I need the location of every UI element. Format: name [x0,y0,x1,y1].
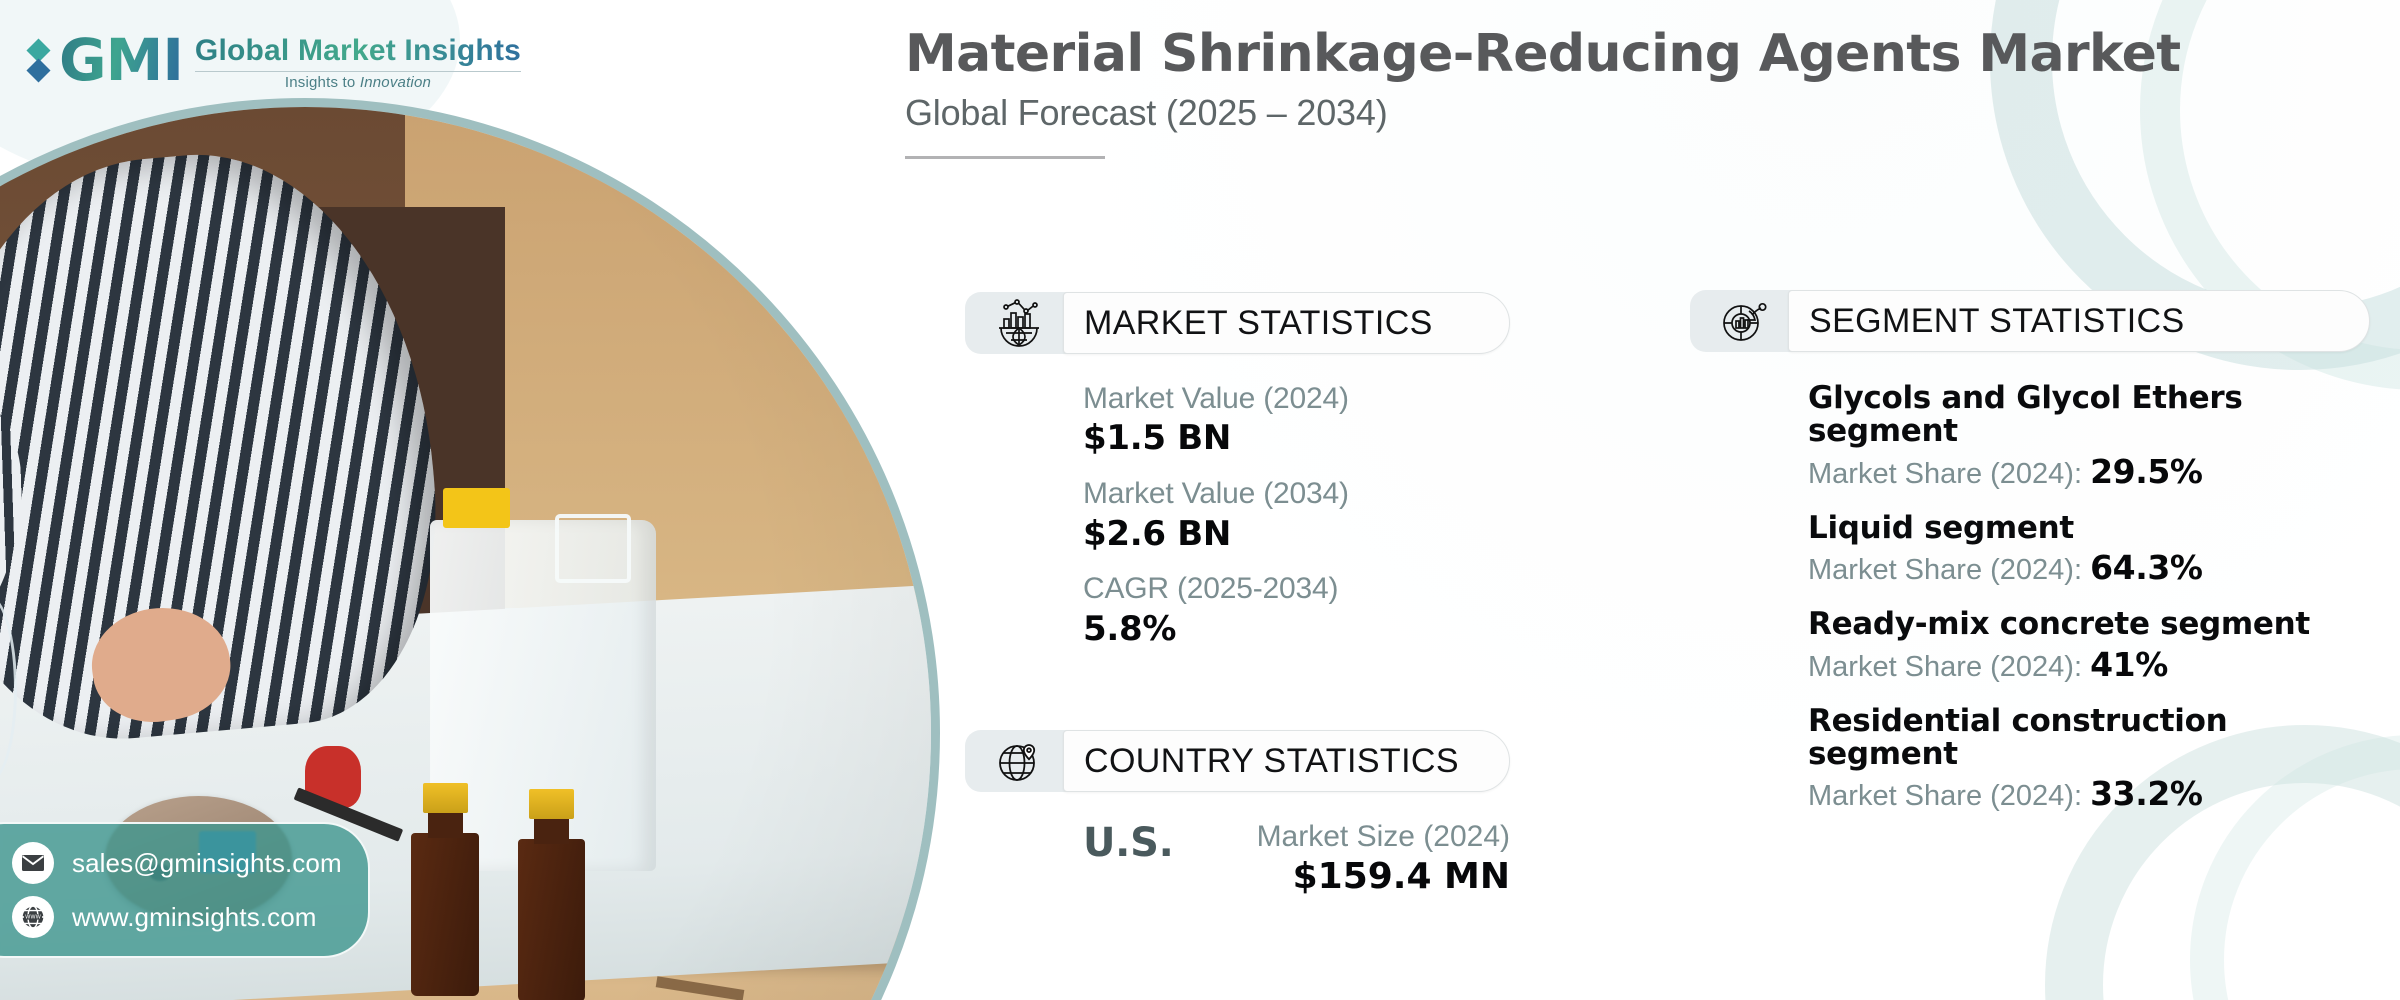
segment-title: Liquid segment [1808,512,2370,545]
market-statistics-heading: MARKET STATISTICS [1084,304,1433,343]
segment-statistics-header: SEGMENT STATISTICS [1690,290,2370,352]
envelope-icon [12,842,54,884]
market-statistics-body: Market Value (2024) $1.5 BN Market Value… [965,354,1510,650]
logo-tagline: Insights to Innovation [195,74,521,91]
market-value-2024-label: Market Value (2024) [1083,380,1510,418]
page-subtitle: Global Forecast (2025 – 2034) [905,92,2205,134]
country-statistics-heading: COUNTRY STATISTICS [1084,742,1459,781]
segment-share: Market Share (2024): 64.3% [1808,547,2370,590]
segment-item: Glycols and Glycol Ethers segment Market… [1808,382,2370,494]
market-statistics-header: MARKET STATISTICS [965,292,1510,354]
contact-badge: sales@gminsights.com WWW www.gminsights.… [0,822,370,958]
www-globe-icon: WWW [12,896,54,938]
country-market-size-label: Market Size (2024) [1257,820,1510,854]
segment-share-value: 29.5% [2090,452,2203,491]
segment-share-value: 41% [2090,645,2168,684]
country-statistics-body: U.S. Market Size (2024) $159.4 MN [965,792,1510,897]
svg-text:WWW: WWW [25,915,41,921]
country-market-size-value: $159.4 MN [1257,856,1510,897]
segment-share-value: 64.3% [2090,548,2203,587]
country-name: U.S. [1083,820,1173,866]
cagr-value: 5.8% [1083,609,1510,650]
contact-website-row[interactable]: WWW www.gminsights.com [12,896,342,938]
segment-statistics-body: Glycols and Glycol Ethers segment Market… [1690,352,2370,816]
segment-title: Glycols and Glycol Ethers segment [1808,382,2370,449]
gmi-logo[interactable]: GMI Global Market Insights Insights to I… [30,30,521,91]
segment-share-label: Market Share (2024): [1808,458,2090,490]
gmi-diamonds-logo-icon [30,42,47,79]
title-block: Material Shrinkage-Reducing Agents Marke… [905,26,2205,159]
segment-title: Ready-mix concrete segment [1808,608,2370,641]
country-statistics-pill: COUNTRY STATISTICS [1063,730,1510,792]
logo-company-name: Global Market Insights [195,34,521,68]
logo-mark: GMI [59,34,183,87]
segment-title: Residential construction segment [1808,705,2370,772]
contact-email-row[interactable]: sales@gminsights.com [12,842,342,884]
segment-share-value: 33.2% [2090,774,2203,813]
segment-share-label: Market Share (2024): [1808,780,2090,812]
donut-chart-arrow-icon [1690,290,1798,352]
page-title: Material Shrinkage-Reducing Agents Marke… [905,26,2205,82]
country-statistics-panel: COUNTRY STATISTICS U.S. Market Size (202… [965,730,1510,897]
globe-location-pin-icon [965,730,1073,792]
segment-statistics-pill: SEGMENT STATISTICS [1788,290,2370,352]
globe-bar-chart-icon [965,292,1073,354]
country-statistics-header: COUNTRY STATISTICS [965,730,1510,792]
segment-share: Market Share (2024): 33.2% [1808,773,2370,816]
segment-share-label: Market Share (2024): [1808,554,2090,586]
contact-website: www.gminsights.com [72,902,317,933]
segment-share-label: Market Share (2024): [1808,651,2090,683]
market-value-2034-label: Market Value (2034) [1083,475,1510,513]
title-divider [905,156,1105,159]
market-value-2024-value: $1.5 BN [1083,418,1510,459]
logo-tagline-prefix: Insights to [285,74,360,91]
market-statistics-panel: MARKET STATISTICS Market Value (2024) $1… [965,292,1510,666]
segment-share: Market Share (2024): 29.5% [1808,451,2370,494]
cagr-label: CAGR (2025-2034) [1083,570,1510,608]
logo-divider [195,71,521,72]
market-value-2034-value: $2.6 BN [1083,514,1510,555]
segment-statistics-panel: SEGMENT STATISTICS Glycols and Glycol Et… [1690,290,2370,834]
logo-tagline-emphasis: Innovation [360,74,431,91]
segment-statistics-heading: SEGMENT STATISTICS [1809,302,2185,341]
contact-email: sales@gminsights.com [72,848,342,879]
market-statistics-pill: MARKET STATISTICS [1063,292,1510,354]
segment-item: Liquid segment Market Share (2024): 64.3… [1808,512,2370,590]
segment-item: Residential construction segment Market … [1808,705,2370,817]
segment-share: Market Share (2024): 41% [1808,644,2370,687]
segment-item: Ready-mix concrete segment Market Share … [1808,608,2370,686]
